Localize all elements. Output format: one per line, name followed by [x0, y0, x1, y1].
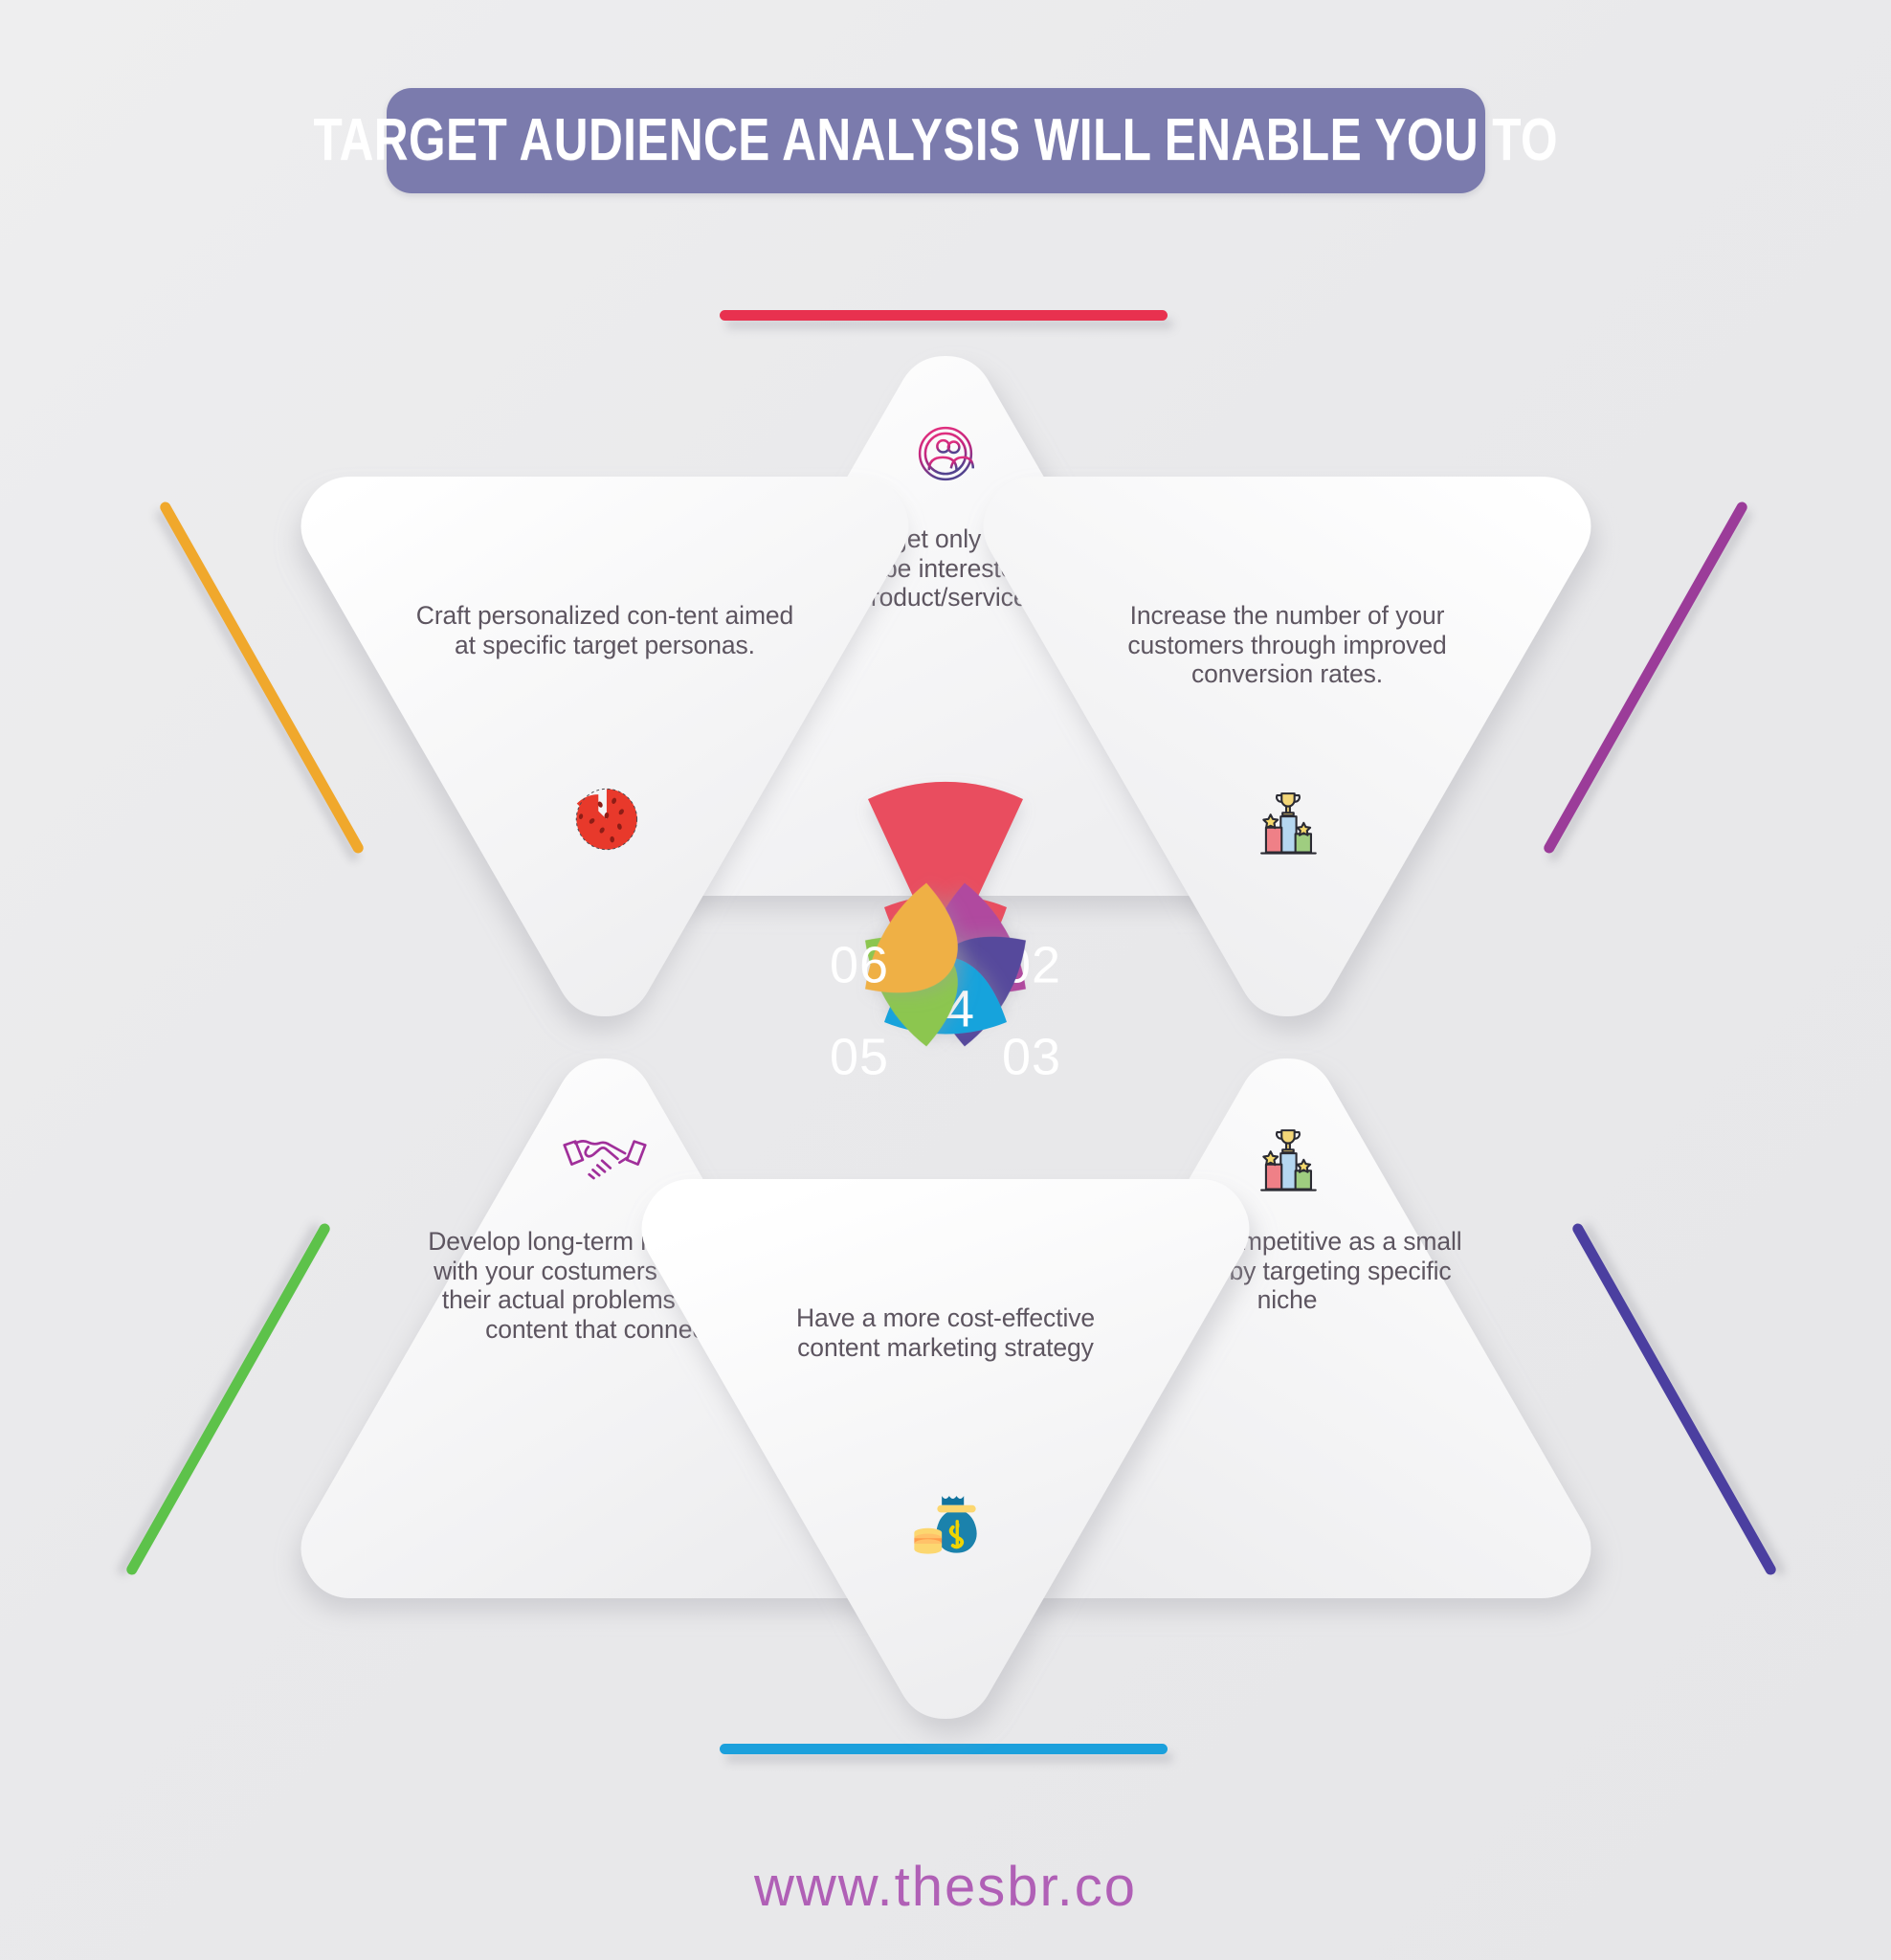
center-petal-wheel: 01 02 03 04 — [697, 716, 1194, 1214]
petal-06-number: 06 — [830, 936, 889, 993]
infographic-canvas: TARGET AUDIENCE ANALYSIS WILL ENABLE YOU… — [0, 0, 1891, 1960]
hexagon-diagram: Find and target only the audience that m… — [0, 0, 1891, 1960]
panel-04[interactable]: Have a more cost-effective content marke… — [615, 1160, 1276, 1732]
petal-05-number: 05 — [830, 1028, 889, 1085]
footer: www.thesbr.co — [0, 1855, 1891, 1919]
website-url[interactable]: www.thesbr.co — [754, 1856, 1137, 1918]
petal-03-number: 03 — [1002, 1028, 1061, 1085]
